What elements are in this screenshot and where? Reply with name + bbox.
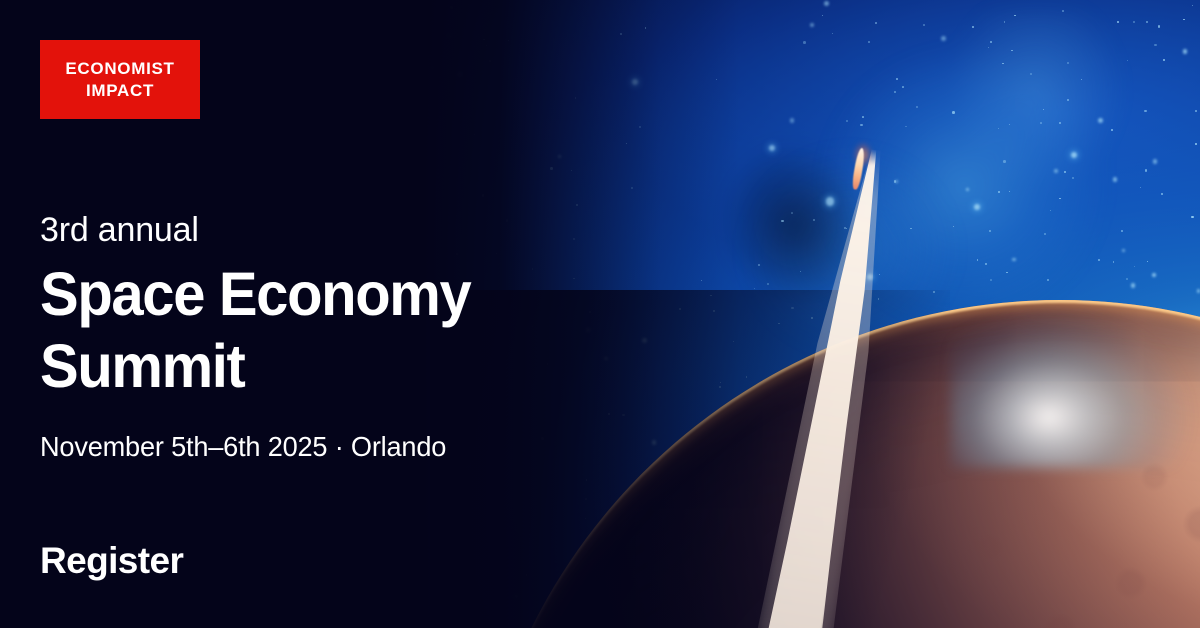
register-button[interactable]: Register [40,540,183,583]
banner-content: ECONOMIST IMPACT 3rd annual Space Econom… [0,0,1200,628]
headline-line-2: Summit [40,330,470,402]
economist-impact-logo[interactable]: ECONOMIST IMPACT [40,40,200,119]
logo-line-impact: IMPACT [86,81,154,101]
logo-line-economist: ECONOMIST [65,59,174,79]
event-kicker: 3rd annual [40,212,199,249]
event-promo-banner: ECONOMIST IMPACT 3rd annual Space Econom… [0,0,1200,628]
page-title: Space Economy Summit [40,258,470,402]
event-dateline: November 5th–6th 2025 · Orlando [40,430,446,464]
headline-line-1: Space Economy [40,258,470,330]
